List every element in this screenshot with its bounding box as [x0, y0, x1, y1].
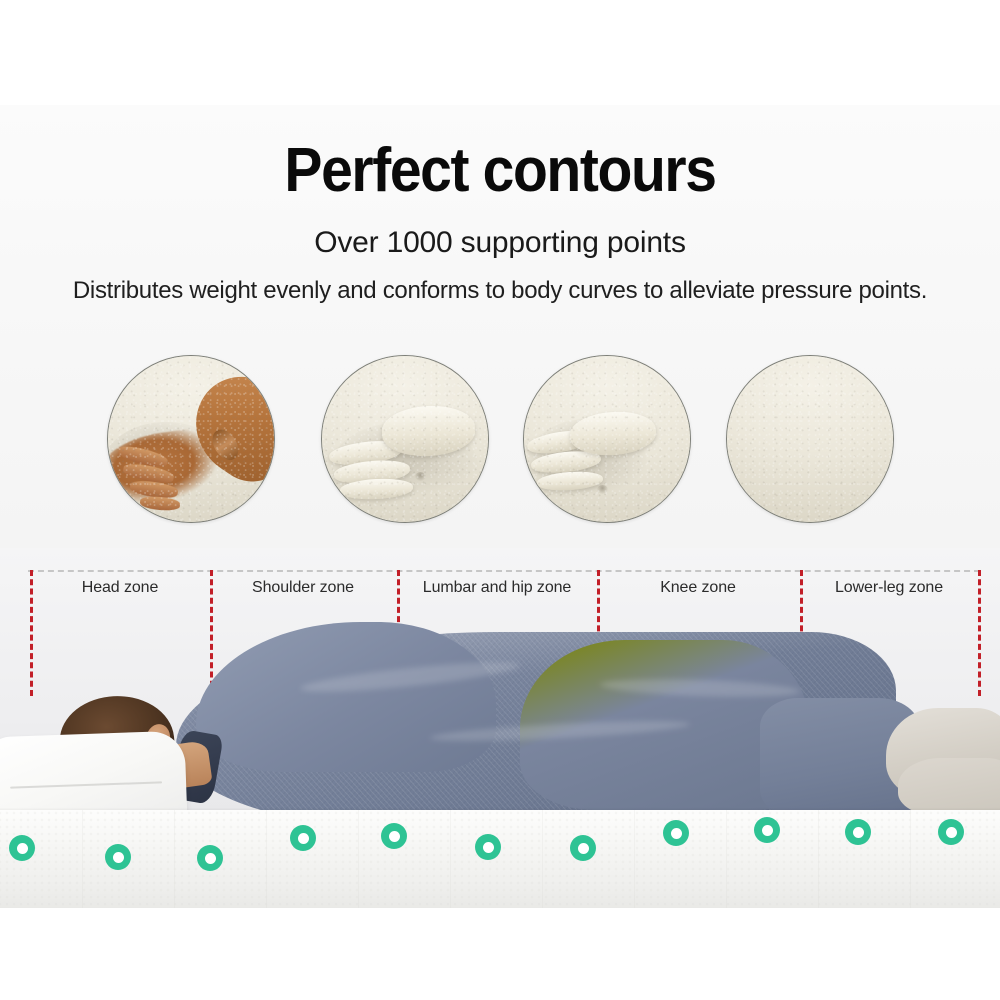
- foam-step-1-hand-pressing-icon: [107, 355, 275, 523]
- support-point-marker: [290, 825, 316, 851]
- foam-grain-texture: [108, 356, 274, 522]
- page-subtitle: Over 1000 supporting points: [0, 228, 1000, 258]
- support-point-marker: [845, 819, 871, 845]
- foam-grain-texture: [727, 356, 893, 522]
- foam-grain-texture: [322, 356, 488, 522]
- zone-label-lower-leg: Lower-leg zone: [800, 580, 978, 596]
- foam-step-2-imprint-deep-icon: [321, 355, 489, 523]
- zone-label-knee: Knee zone: [608, 580, 788, 596]
- zone-label-shoulder: Shoulder zone: [223, 580, 383, 596]
- foam-step-3-imprint-recovering-icon: [523, 355, 691, 523]
- page-title: Perfect contours: [40, 140, 960, 202]
- page-description: Distributes weight evenly and conforms t…: [0, 278, 1000, 304]
- sleeper-photo: Head zone Shoulder zone Lumbar and hip z…: [0, 548, 1000, 910]
- support-point-marker: [197, 845, 223, 871]
- support-point-marker: [938, 819, 964, 845]
- bottom-whitespace: [0, 908, 1000, 1000]
- support-point-marker: [570, 835, 596, 861]
- zone-divider-5: [978, 570, 981, 696]
- support-point-marker: [663, 820, 689, 846]
- foam-sequence: [0, 355, 1000, 527]
- zone-top-divider: [28, 570, 980, 572]
- support-point-marker: [105, 844, 131, 870]
- foam-step-4-recovered-icon: [726, 355, 894, 523]
- support-point-marker: [9, 835, 35, 861]
- support-point-marker: [475, 834, 501, 860]
- foam-grain-texture: [524, 356, 690, 522]
- zone-divider-0: [30, 570, 33, 696]
- sleeper-foot: [898, 758, 1000, 816]
- zone-label-head: Head zone: [40, 580, 200, 596]
- support-point-marker: [381, 823, 407, 849]
- infographic-page: Perfect contours Over 1000 supporting po…: [0, 0, 1000, 1000]
- support-point-marker: [754, 817, 780, 843]
- zone-label-lumbar: Lumbar and hip zone: [407, 580, 587, 596]
- zone-divider-1: [210, 570, 213, 696]
